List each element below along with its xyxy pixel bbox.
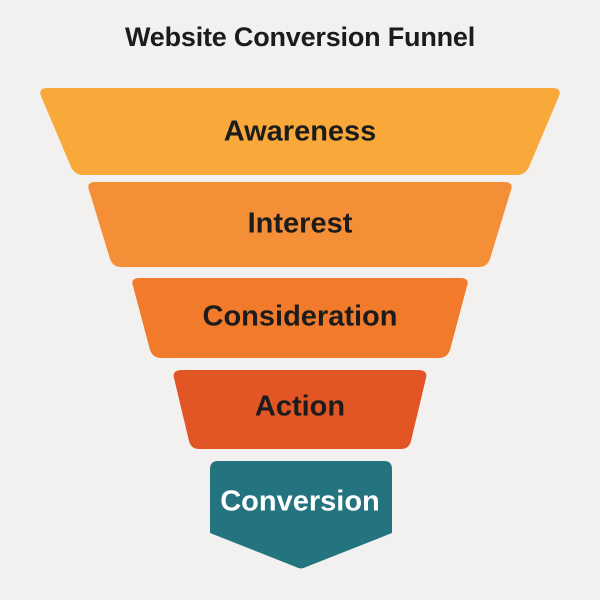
funnel-chart-page: Website Conversion Funnel Awareness Inte… bbox=[0, 0, 600, 600]
funnel-stage-interest-label: Interest bbox=[248, 208, 353, 240]
funnel-stage-conversion[interactable]: Conversion bbox=[210, 461, 392, 569]
funnel-stage-action[interactable]: Action bbox=[174, 370, 427, 449]
funnel-stage-awareness-label: Awareness bbox=[224, 116, 377, 148]
funnel-stage-conversion-label: Conversion bbox=[220, 486, 380, 518]
funnel-stage-consideration-label: Consideration bbox=[203, 301, 398, 333]
funnel-stage-interest[interactable]: Interest bbox=[88, 182, 511, 267]
funnel-stage-consideration[interactable]: Consideration bbox=[132, 278, 467, 358]
funnel-diagram: Awareness Interest Consideration Action … bbox=[0, 0, 600, 600]
funnel-stage-awareness[interactable]: Awareness bbox=[40, 88, 559, 175]
funnel-stage-action-label: Action bbox=[255, 391, 345, 423]
